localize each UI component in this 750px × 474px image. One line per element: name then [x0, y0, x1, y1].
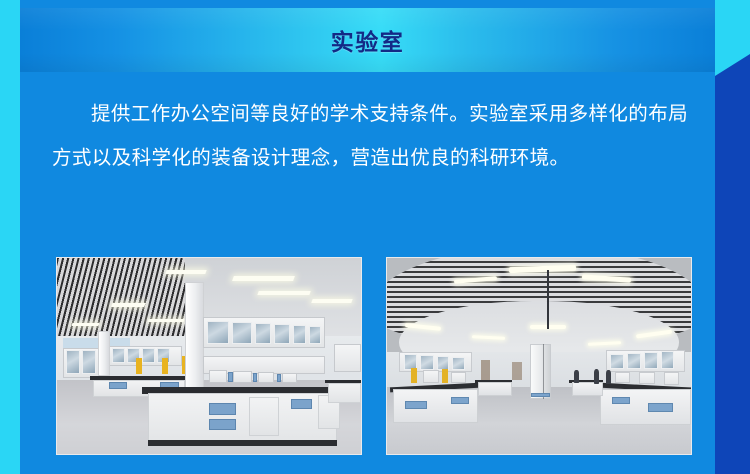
- person-figure: [574, 370, 579, 384]
- island-drawer: [209, 419, 236, 431]
- inner-bench-body: [478, 382, 511, 396]
- reagent-box: [258, 372, 275, 384]
- page-title: 实验室: [20, 8, 715, 72]
- ceiling-light: [111, 303, 146, 307]
- bench-drawer: [405, 401, 426, 409]
- lab-photo-right: [386, 257, 692, 455]
- cabinet-glass-door: [661, 351, 675, 369]
- ceiling-light: [257, 291, 310, 295]
- central-column: [530, 344, 551, 399]
- photo-gallery: [56, 257, 692, 455]
- reagent-box-accent: [228, 372, 232, 383]
- ceiling-light: [166, 270, 207, 274]
- structural-column-base: [98, 331, 110, 376]
- window-frame: [334, 344, 361, 371]
- bench-drawer: [612, 397, 630, 404]
- cabinet-glass-door: [66, 350, 80, 374]
- reagent-box: [664, 372, 679, 386]
- side-bench-body: [328, 383, 361, 403]
- right-bench-body: [600, 389, 691, 424]
- structural-column: [185, 282, 205, 392]
- body-paragraph: 提供工作办公空间等良好的学术支持条件。实验室采用多样化的布局方式以及科学化的装备…: [52, 92, 702, 180]
- safety-equipment: [136, 358, 142, 374]
- safety-equipment: [162, 358, 168, 374]
- lab-photo-left: [56, 257, 362, 455]
- reagent-box: [639, 372, 654, 385]
- cabinet-glass-door: [232, 322, 252, 345]
- cabinet-glass-door: [627, 353, 641, 369]
- cabinet-glass-door: [452, 357, 464, 370]
- cabinet-glass-door: [207, 321, 228, 345]
- island-door-panel: [249, 397, 279, 436]
- ceiling-light: [232, 276, 295, 281]
- safety-equipment: [411, 368, 417, 384]
- column-base-accent: [531, 393, 549, 397]
- doorway: [512, 362, 523, 380]
- bench-drawer: [451, 397, 469, 404]
- cabinet-glass-door: [274, 324, 289, 345]
- cabinet-glass-door: [309, 326, 322, 345]
- reagent-box: [209, 370, 227, 384]
- ceiling-light: [148, 319, 186, 322]
- safety-equipment: [442, 369, 448, 384]
- person-figure: [594, 369, 599, 385]
- ceiling-drop-pipe: [547, 270, 550, 329]
- reagent-box: [233, 371, 251, 384]
- reagent-box-accent: [253, 373, 257, 383]
- island-toe-kick: [148, 440, 336, 446]
- person-figure: [606, 370, 611, 385]
- ceiling-light: [72, 323, 100, 326]
- cabinet-glass-door: [437, 356, 449, 370]
- column-seam: [543, 344, 545, 399]
- reagent-box: [451, 372, 466, 384]
- cabinet-glass-door: [112, 348, 125, 363]
- left-edge-accent-bar: [0, 0, 20, 474]
- reagent-box: [423, 370, 438, 384]
- bench-drawer: [648, 403, 672, 412]
- reagent-box-accent: [277, 374, 281, 383]
- reagent-box: [615, 372, 630, 384]
- cabinet-glass-door: [610, 354, 624, 369]
- ceiling-light: [312, 299, 353, 303]
- reagent-box: [282, 373, 297, 384]
- island-drawer: [209, 403, 236, 415]
- island-drawer: [291, 399, 312, 409]
- doorway: [481, 360, 490, 380]
- cabinet-glass-door: [142, 348, 155, 363]
- inner-bench-body: [572, 382, 602, 396]
- bench-drawer: [109, 382, 127, 388]
- cabinet-glass-door: [255, 323, 272, 345]
- lab-promo-page: 实验室 提供工作办公空间等良好的学术支持条件。实验室采用多样化的布局方式以及科学…: [0, 0, 750, 474]
- cabinet-glass-door: [420, 355, 434, 370]
- cabinet-glass-door: [644, 352, 658, 369]
- cabinet-glass-door: [82, 350, 96, 374]
- cabinet-glass-door: [293, 325, 307, 345]
